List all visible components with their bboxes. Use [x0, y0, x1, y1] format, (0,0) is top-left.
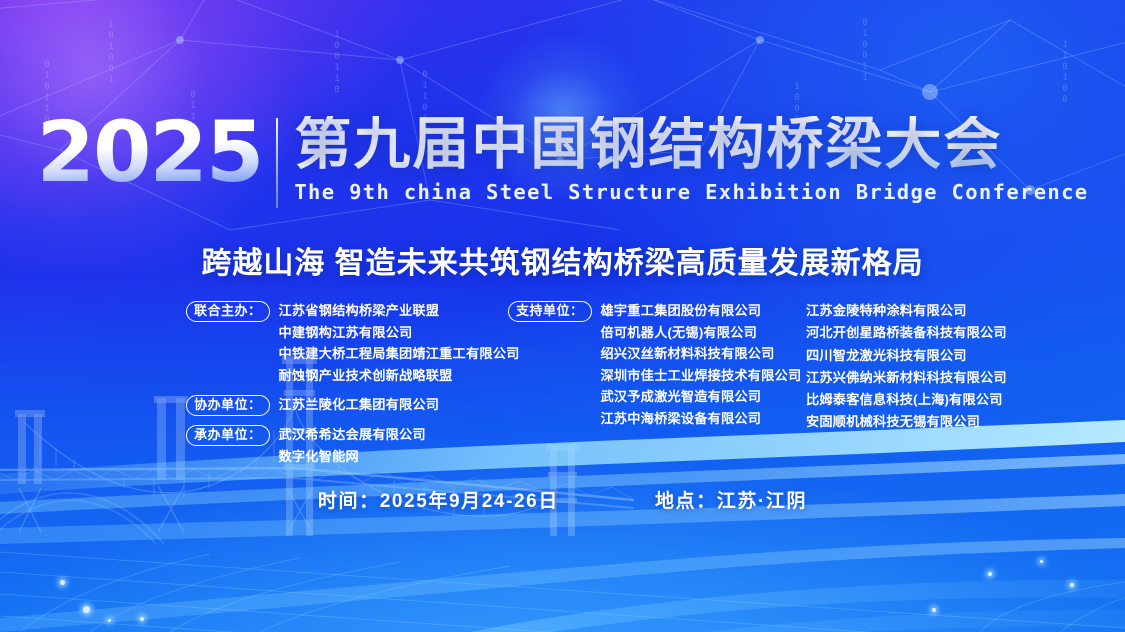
sponsor-group: 江苏金陵特种涂料有限公司 河北开创星路桥装备科技有限公司 四川智龙激光科技有限公… — [806, 300, 1007, 434]
sponsor-name: 数字化智能网 — [279, 446, 426, 468]
event-location: 地点：江苏·江阴 — [655, 486, 807, 513]
sponsor-group: 联合主办： 江苏省钢结构桥梁产业联盟 中建钢构江苏有限公司 中铁建大桥工程局集团… — [186, 300, 520, 386]
footer-info: 时间：2025年9月24-26日 地点：江苏·江阴 — [0, 486, 1125, 513]
sponsor-column-right: 江苏金陵特种涂料有限公司 河北开创星路桥装备科技有限公司 四川智龙激光科技有限公… — [806, 300, 1007, 442]
sponsor-name: 江苏兰陵化工集团有限公司 — [279, 394, 440, 416]
sponsor-name: 比姆泰客信息科技(上海)有限公司 — [806, 389, 1007, 411]
sponsor-name: 武汉予成激光智造有限公司 — [601, 386, 802, 408]
sponsor-name-list: 江苏兰陵化工集团有限公司 — [279, 394, 440, 416]
sponsor-name: 耐蚀钢产业技术创新战略联盟 — [279, 365, 520, 387]
year-text: 2025 — [37, 116, 277, 188]
sponsor-name: 四川智龙激光科技有限公司 — [806, 345, 1007, 367]
sponsor-group: 协办单位： 江苏兰陵化工集团有限公司 — [186, 394, 520, 416]
conference-banner: 010110 101001 0110 100110 011010 1001 01… — [0, 0, 1125, 632]
sponsor-name: 中建钢构江苏有限公司 — [279, 322, 520, 344]
sponsor-name-list: 武汉希希达会展有限公司 数字化智能网 — [279, 424, 426, 467]
sponsor-name-list: 雄宇重工集团股份有限公司 倍可机器人(无锡)有限公司 绍兴汉丝新材料科技有限公司… — [601, 300, 802, 429]
sponsor-label-pill: 联合主办： — [186, 301, 270, 322]
title-stack: 第九届中国钢结构桥梁大会 The 9th china Steel Structu… — [278, 116, 1088, 204]
sponsor-name: 武汉希希达会展有限公司 — [279, 424, 426, 446]
sponsor-name-list: 江苏金陵特种涂料有限公司 河北开创星路桥装备科技有限公司 四川智龙激光科技有限公… — [806, 300, 1007, 434]
page-title: 第九届中国钢结构桥梁大会 — [294, 116, 1088, 173]
sponsor-column-left: 联合主办： 江苏省钢结构桥梁产业联盟 中建钢构江苏有限公司 中铁建大桥工程局集团… — [186, 300, 520, 475]
sponsor-name: 江苏金陵特种涂料有限公司 — [806, 300, 1007, 322]
sponsor-name: 河北开创星路桥装备科技有限公司 — [806, 322, 1007, 344]
sponsor-name: 中铁建大桥工程局集团靖江重工有限公司 — [279, 343, 520, 365]
sponsor-label-pill: 承办单位： — [186, 425, 270, 446]
sponsor-name: 安固顺机械科技无锡有限公司 — [806, 411, 1007, 433]
event-date: 时间：2025年9月24-26日 — [318, 486, 559, 513]
sponsor-column-middle: 支持单位： 雄宇重工集团股份有限公司 倍可机器人(无锡)有限公司 绍兴汉丝新材料… — [508, 300, 801, 437]
sponsor-name: 江苏省钢结构桥梁产业联盟 — [279, 300, 520, 322]
sponsor-label-pill: 支持单位： — [508, 301, 592, 322]
tagline: 跨越山海 智造未来共筑钢结构桥梁高质量发展新格局 — [0, 238, 1125, 282]
sponsor-name-list: 江苏省钢结构桥梁产业联盟 中建钢构江苏有限公司 中铁建大桥工程局集团靖江重工有限… — [279, 300, 520, 386]
sponsor-label-pill: 协办单位： — [186, 395, 270, 416]
sponsor-name: 江苏中海桥梁设备有限公司 — [601, 408, 802, 430]
sponsor-name: 江苏兴佛纳米新材料科技有限公司 — [806, 367, 1007, 389]
sponsor-name: 雄宇重工集团股份有限公司 — [601, 300, 802, 322]
sponsor-group: 支持单位： 雄宇重工集团股份有限公司 倍可机器人(无锡)有限公司 绍兴汉丝新材料… — [508, 300, 801, 429]
page-subtitle-en: The 9th china Steel Structure Exhibition… — [294, 180, 1088, 204]
sponsor-name: 倍可机器人(无锡)有限公司 — [601, 322, 802, 344]
banner-content: 2025 第九届中国钢结构桥梁大会 The 9th china Steel St… — [0, 0, 1125, 632]
sponsor-group: 承办单位： 武汉希希达会展有限公司 数字化智能网 — [186, 424, 520, 467]
sponsor-section: 联合主办： 江苏省钢结构桥梁产业联盟 中建钢构江苏有限公司 中铁建大桥工程局集团… — [0, 300, 1125, 450]
title-row: 2025 第九届中国钢结构桥梁大会 The 9th china Steel St… — [0, 116, 1125, 208]
sponsor-name: 深圳市佳士工业焊接技术有限公司 — [601, 365, 802, 387]
sponsor-name: 绍兴汉丝新材料科技有限公司 — [601, 343, 802, 365]
